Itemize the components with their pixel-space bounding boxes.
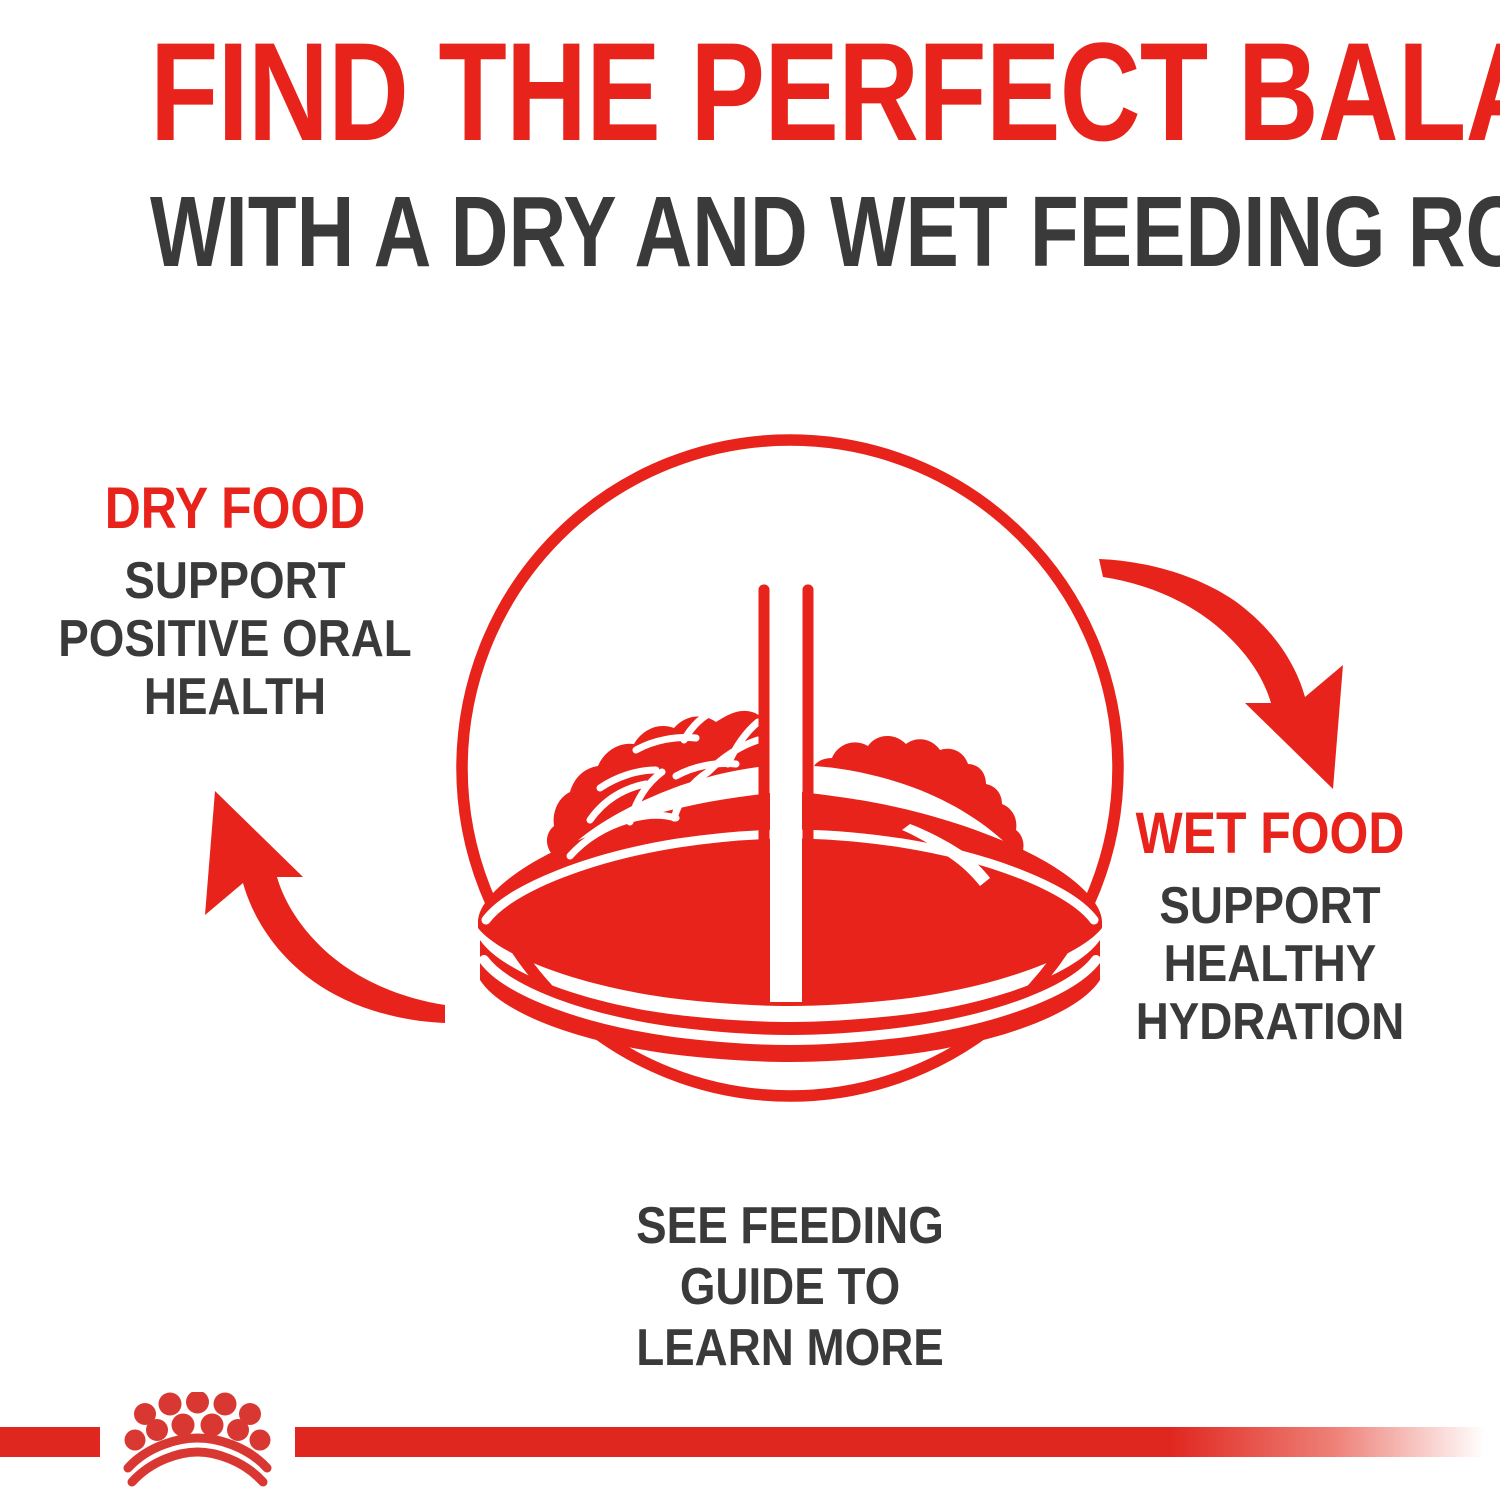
see-feeding-guide-line-2: GUIDE TO <box>561 1257 1019 1318</box>
see-feeding-guide-line-1: SEE FEEDING <box>561 1196 1019 1257</box>
curved-arrow-down-right-icon <box>1095 545 1375 805</box>
page-title: FIND THE PERFECT BALANCE <box>150 22 1350 162</box>
dry-food-category-label: DRY FOOD <box>33 480 437 538</box>
royal-canin-crown-logo <box>100 1392 295 1487</box>
dry-food-description: SUPPORT POSITIVE ORAL HEALTH <box>28 552 442 727</box>
dry-food-description-line-3: HEALTH <box>28 668 442 726</box>
split-bowl-graphic <box>440 420 1140 1120</box>
divider-gap <box>770 590 802 1002</box>
see-feeding-guide-line-3: LEARN MORE <box>561 1318 1019 1379</box>
curved-arrow-up-left-icon <box>185 785 455 1035</box>
see-feeding-guide-caption: SEE FEEDING GUIDE TO LEARN MORE <box>561 1196 1019 1378</box>
dry-food-description-line-1: SUPPORT <box>28 552 442 610</box>
dry-food-description-line-2: POSITIVE ORAL <box>28 610 442 668</box>
page-subtitle: WITH A DRY AND WET FEEDING ROUTINE <box>150 182 1350 282</box>
poster-canvas: FIND THE PERFECT BALANCE WITH A DRY AND … <box>0 0 1500 1500</box>
dry-food-callout: DRY FOOD SUPPORT POSITIVE ORAL HEALTH <box>0 480 470 727</box>
